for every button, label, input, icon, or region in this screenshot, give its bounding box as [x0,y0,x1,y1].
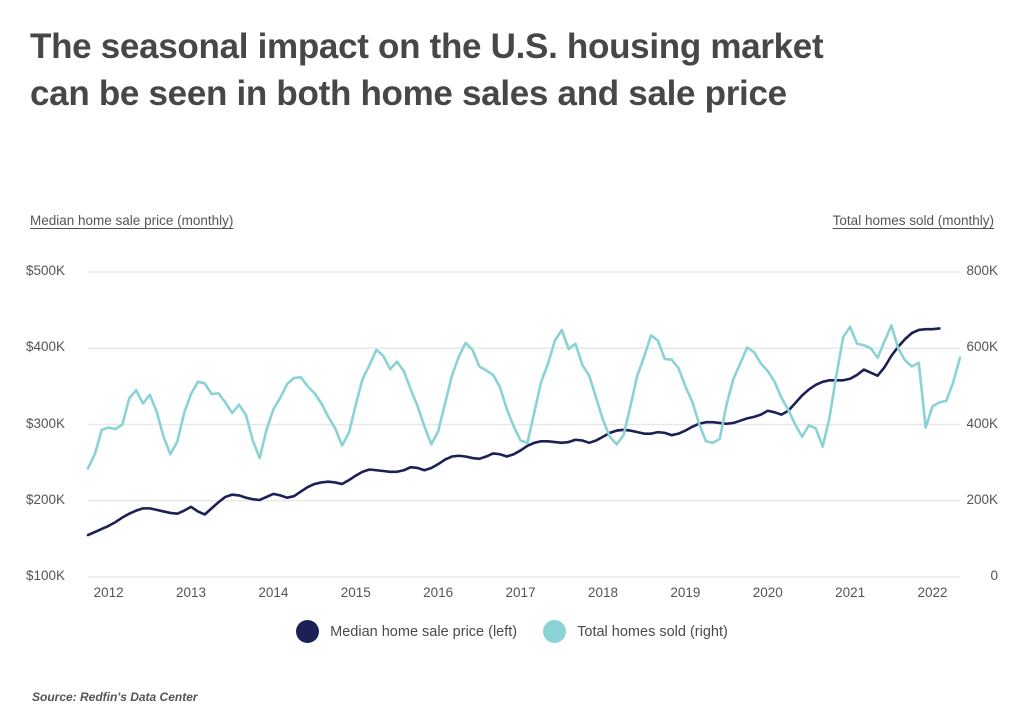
x-axis-tick-label: 2022 [918,585,948,600]
legend-swatch-circle-icon [296,620,319,643]
x-axis-tick-label: 2018 [588,585,618,600]
page-title: The seasonal impact on the U.S. housing … [30,24,980,117]
x-axis-tick-label: 2017 [506,585,536,600]
axis-tick-label: $400K [26,339,65,354]
x-axis-tick-label: 2013 [176,585,206,600]
series-lines [88,325,960,535]
axis-tick-label: $300K [26,416,65,431]
axis-tick-label: 0 [990,568,998,583]
x-axis-tick-label: 2012 [94,585,124,600]
axis-tick-label: $100K [26,568,65,583]
plot-area [0,250,1024,590]
source-note: Source: Redfin's Data Center [32,690,198,704]
chart-legend: Median home sale price (left)Total homes… [0,620,1024,643]
legend-swatch-circle-icon [543,620,566,643]
x-axis-tick-label: 2014 [258,585,288,600]
chart-svg [0,250,1024,590]
x-axis-tick-label: 2016 [423,585,453,600]
axis-tick-label: $200K [26,492,65,507]
axis-tick-label: 600K [966,339,998,354]
chart-page: The seasonal impact on the U.S. housing … [0,0,1024,715]
axis-tick-label: 200K [966,492,998,507]
axis-tick-label: $500K [26,263,65,278]
x-axis-tick-label: 2019 [670,585,700,600]
axis-tick-label: 400K [966,416,998,431]
legend-item-label: Total homes sold (right) [577,624,728,640]
series-line [88,328,939,535]
x-axis-tick-label: 2015 [341,585,371,600]
legend-item[interactable]: Median home sale price (left) [296,620,517,643]
legend-item[interactable]: Total homes sold (right) [543,620,728,643]
x-axis-tick-label: 2021 [835,585,865,600]
x-axis-ticks: 2012201320142015201620172018201920202021… [88,585,960,609]
axis-tick-label: 800K [966,263,998,278]
right-axis-title: Total homes sold (monthly) [833,213,994,228]
x-axis-tick-label: 2020 [753,585,783,600]
left-axis-title: Median home sale price (monthly) [30,213,233,228]
legend-item-label: Median home sale price (left) [330,624,517,640]
